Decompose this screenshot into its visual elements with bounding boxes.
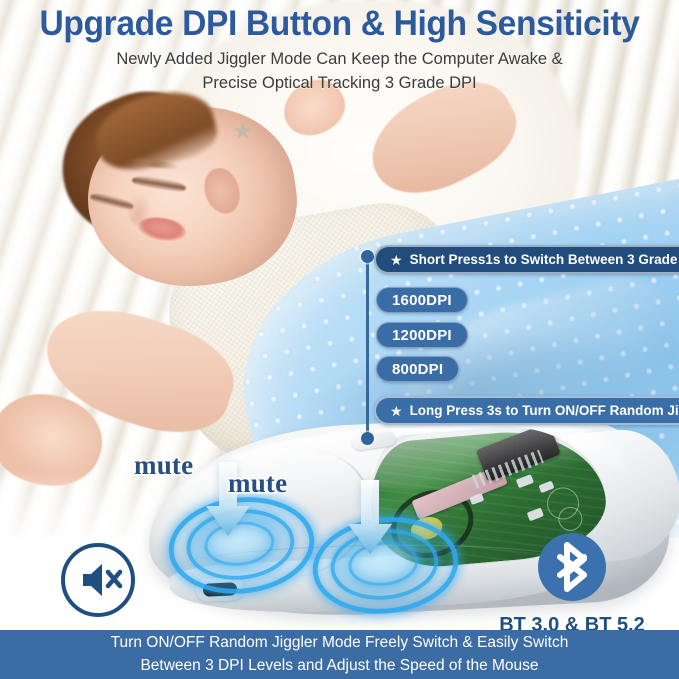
star-icon: ★ [390, 253, 403, 267]
mute-label-right: mute [228, 468, 287, 499]
bluetooth-icon [534, 529, 610, 605]
bottom-banner-line-2: Between 3 DPI Levels and Adjust the Spee… [140, 655, 538, 677]
product-marketing-image: mute mute Upgrade DPI Button & High Sens… [0, 0, 679, 679]
subtitle-line-1: Newly Added Jiggler Mode Can Keep the Co… [0, 48, 679, 72]
callout-long-press-label: Long Press 3s to Turn ON/OFF Random Jigg… [410, 403, 679, 418]
callout-leader-line [366, 258, 369, 438]
callout-short-press: ★ Short Press1s to Switch Between 3 Grad… [374, 245, 679, 274]
mute-speaker-icon [59, 541, 137, 619]
callout-short-press-label: Short Press1s to Switch Between 3 Grade … [410, 252, 679, 267]
feature-bluetooth: BT 3.0 & BT 5.2 [466, 529, 678, 637]
mute-label-left: mute [134, 450, 193, 481]
page-title: Upgrade DPI Button & High Sensiticity [14, 4, 666, 44]
subtitle-line-2: Precise Optical Tracking 3 Grade DPI [0, 72, 679, 96]
callout-dot-top [361, 250, 374, 263]
down-arrow-icon [348, 480, 392, 559]
callout-dot-bottom [361, 432, 374, 445]
dpi-badge-1200: 1200DPI [376, 322, 468, 348]
dpi-badge-800: 800DPI [376, 356, 459, 382]
dpi-badge-1600: 1600DPI [376, 287, 468, 313]
page-subtitle: Newly Added Jiggler Mode Can Keep the Co… [0, 48, 679, 96]
bottom-banner: Turn ON/OFF Random Jiggler Mode Freely S… [0, 630, 679, 679]
callout-long-press: ★ Long Press 3s to Turn ON/OFF Random Ji… [374, 396, 679, 425]
star-icon: ★ [390, 404, 403, 418]
bottom-banner-line-1: Turn ON/OFF Random Jiggler Mode Freely S… [111, 632, 569, 654]
